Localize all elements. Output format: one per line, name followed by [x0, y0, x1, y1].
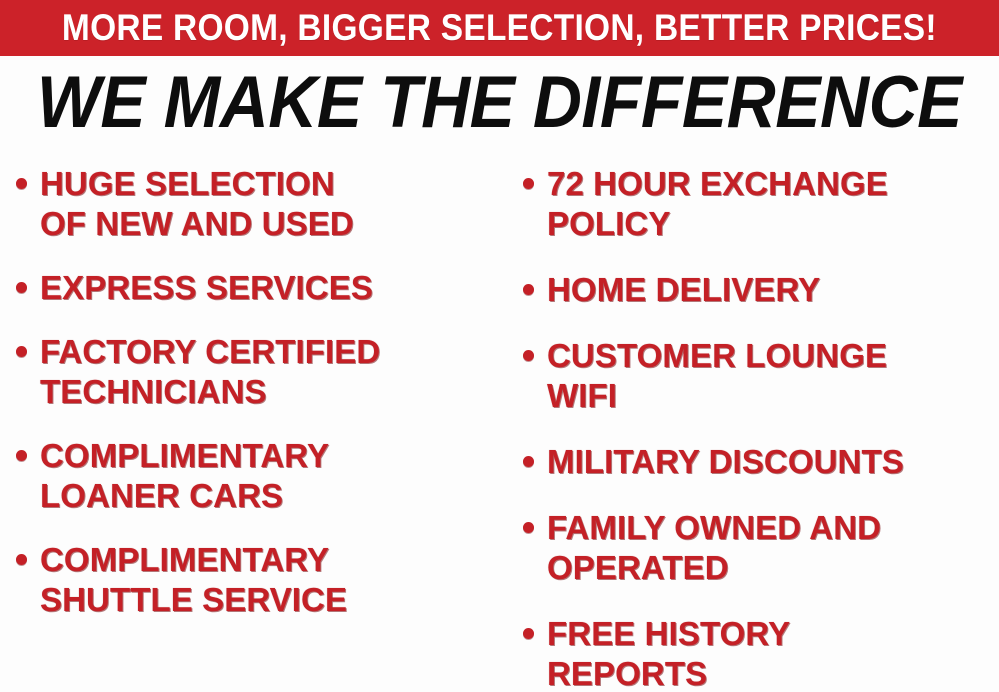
bullet-dot-icon — [523, 628, 534, 639]
list-item-label: HUGE SELECTION OF NEW AND USED — [40, 164, 354, 244]
list-item-label: 72 HOUR EXCHANGE POLICY — [547, 164, 888, 244]
list-item: CUSTOMER LOUNGE WIFI — [523, 336, 999, 416]
top-banner: MORE ROOM, BIGGER SELECTION, BETTER PRIC… — [0, 0, 999, 56]
benefits-column-left: HUGE SELECTION OF NEW AND USED EXPRESS S… — [0, 152, 505, 692]
list-item-label: EXPRESS SERVICES — [40, 268, 373, 308]
main-headline: WE MAKE THE DIFFERENCE — [37, 66, 962, 140]
bullet-dot-icon — [523, 456, 534, 467]
list-item: COMPLIMENTARY SHUTTLE SERVICE — [16, 540, 505, 620]
list-item: FREE HISTORY REPORTS — [523, 614, 999, 692]
list-item: FAMILY OWNED AND OPERATED — [523, 508, 999, 588]
list-item-label: FAMILY OWNED AND OPERATED — [547, 508, 881, 588]
bullet-dot-icon — [523, 178, 534, 189]
list-item-label: COMPLIMENTARY SHUTTLE SERVICE — [40, 540, 347, 620]
list-item: MILITARY DISCOUNTS — [523, 442, 999, 482]
list-item: EXPRESS SERVICES — [16, 268, 505, 308]
list-item: FACTORY CERTIFIED TECHNICIANS — [16, 332, 505, 412]
list-item-label: COMPLIMENTARY LOANER CARS — [40, 436, 329, 516]
benefits-column-right: 72 HOUR EXCHANGE POLICY HOME DELIVERY CU… — [505, 152, 999, 692]
list-item: HUGE SELECTION OF NEW AND USED — [16, 164, 505, 244]
bullet-dot-icon — [523, 522, 534, 533]
bullet-dot-icon — [523, 284, 534, 295]
list-item: HOME DELIVERY — [523, 270, 999, 310]
list-item-label: MILITARY DISCOUNTS — [547, 442, 904, 482]
list-item-label: CUSTOMER LOUNGE WIFI — [547, 336, 887, 416]
headline-container: WE MAKE THE DIFFERENCE — [0, 62, 999, 144]
bullet-dot-icon — [16, 450, 27, 461]
list-item-label: FACTORY CERTIFIED TECHNICIANS — [40, 332, 380, 412]
list-item-label: HOME DELIVERY — [547, 270, 820, 310]
bullet-dot-icon — [16, 178, 27, 189]
promo-graphic: MORE ROOM, BIGGER SELECTION, BETTER PRIC… — [0, 0, 999, 692]
benefits-columns: HUGE SELECTION OF NEW AND USED EXPRESS S… — [0, 152, 999, 692]
bullet-dot-icon — [16, 346, 27, 357]
bullet-dot-icon — [16, 282, 27, 293]
banner-headline-text: MORE ROOM, BIGGER SELECTION, BETTER PRIC… — [62, 9, 937, 47]
list-item-label: FREE HISTORY REPORTS — [547, 614, 790, 692]
bullet-dot-icon — [523, 350, 534, 361]
list-item: 72 HOUR EXCHANGE POLICY — [523, 164, 999, 244]
list-item: COMPLIMENTARY LOANER CARS — [16, 436, 505, 516]
bullet-dot-icon — [16, 554, 27, 565]
